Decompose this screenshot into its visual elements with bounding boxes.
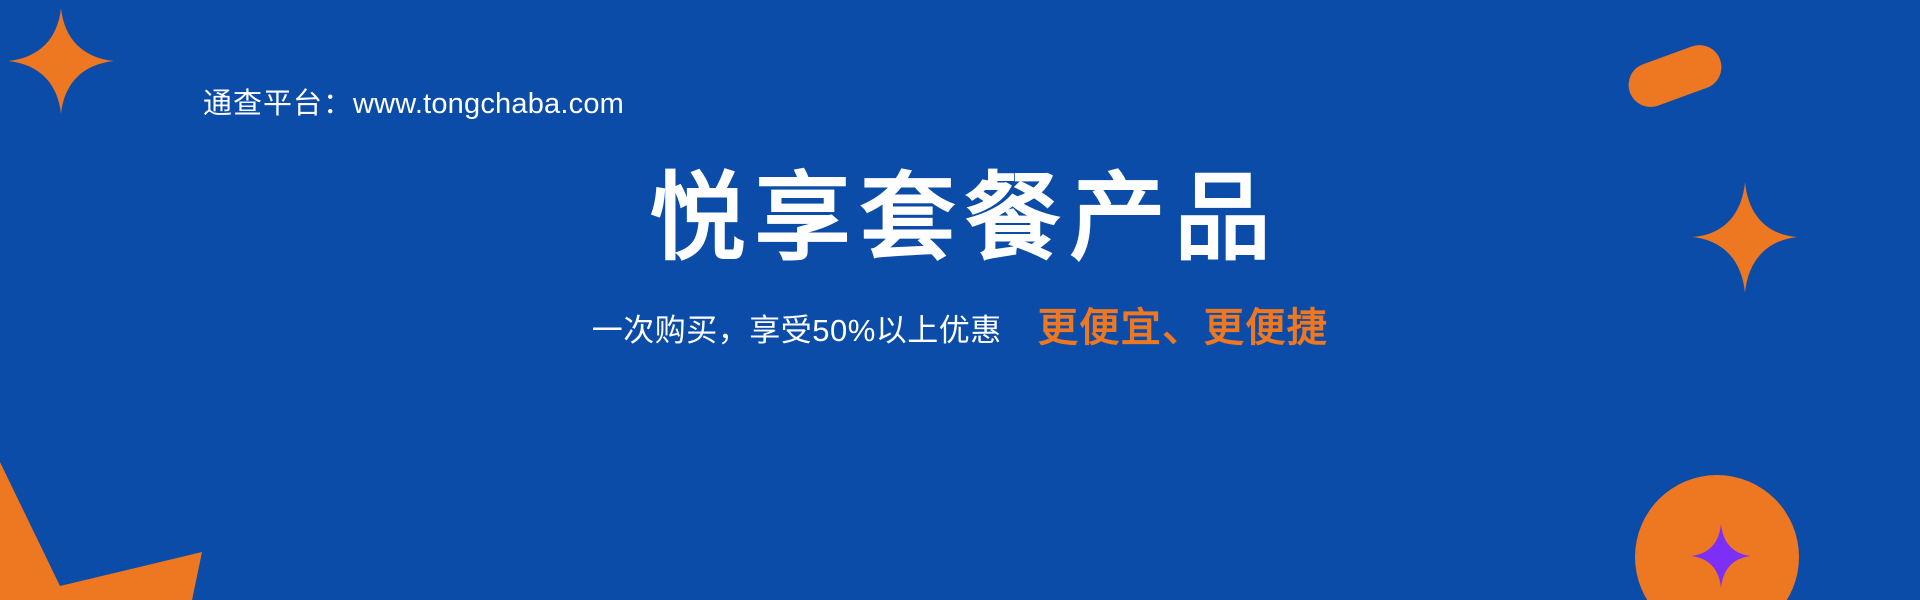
promo-banner: 通查平台：www.tongchaba.com 悦享套餐产品 一次购买，享受50%… xyxy=(0,0,1920,600)
subtitle-highlight-text: 更便宜、更便捷 xyxy=(1038,295,1329,353)
banner-content: 通查平台：www.tongchaba.com 悦享套餐产品 一次购买，享受50%… xyxy=(0,0,1920,600)
site-url: www.tongchaba.com xyxy=(353,88,624,120)
site-line: 通查平台：www.tongchaba.com xyxy=(203,85,624,124)
site-label: 通查平台： xyxy=(203,88,353,120)
subtitle-row: 一次购买，享受50%以上优惠 更便宜、更便捷 xyxy=(0,295,1920,353)
subtitle-offer-text: 一次购买，享受50%以上优惠 xyxy=(592,305,1002,350)
page-title: 悦享套餐产品 xyxy=(0,165,1920,273)
